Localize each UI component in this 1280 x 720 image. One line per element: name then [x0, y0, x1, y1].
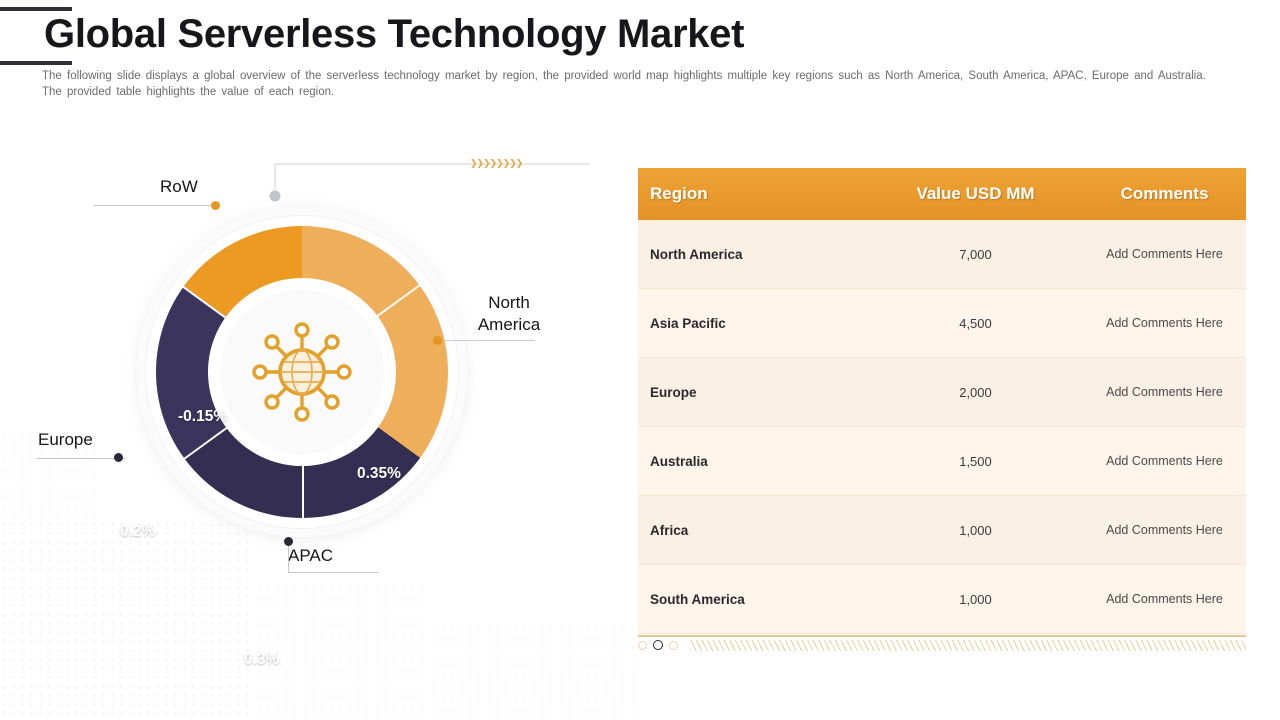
cell-region: Australia: [638, 454, 868, 469]
table-row[interactable]: South America 1,000 Add Comments Here: [638, 565, 1246, 634]
chart-label-apac-stem: [288, 545, 289, 573]
table-row[interactable]: Australia 1,500 Add Comments Here: [638, 427, 1246, 496]
cell-value: 1,000: [868, 592, 1083, 607]
slice-value-north-america: 0.35%: [357, 465, 401, 483]
cell-value: 7,000: [868, 247, 1083, 262]
cell-value: 1,500: [868, 454, 1083, 469]
pagination-dot-2-active[interactable]: [653, 640, 663, 650]
cell-value: 2,000: [868, 385, 1083, 400]
chart-label-row: RoW: [160, 177, 198, 197]
chevron-arrows-icon: ❯❯❯❯❯❯❯❯: [470, 159, 522, 169]
cell-region: North America: [638, 247, 868, 262]
chart-label-apac-line: [288, 572, 378, 573]
table-header-value: Value USD MM: [868, 184, 1083, 204]
chart-label-north-america: North America: [467, 292, 551, 336]
donut-center: [220, 290, 384, 454]
table-header-region: Region: [638, 184, 868, 204]
cell-comments[interactable]: Add Comments Here: [1083, 454, 1246, 468]
slice-value-row: -0.15%: [178, 408, 227, 426]
cell-comments[interactable]: Add Comments Here: [1083, 247, 1246, 261]
cell-comments[interactable]: Add Comments Here: [1083, 523, 1246, 537]
pagination-dot-3[interactable]: [669, 641, 678, 650]
page-title: Global Serverless Technology Market: [44, 12, 744, 57]
chart-label-apac-dot: [284, 537, 293, 546]
footer-hatch-decoration: [690, 640, 1246, 651]
slice-value-apac: 0.3%: [244, 651, 279, 669]
table-header-comments: Comments: [1083, 184, 1246, 204]
footer-pagination: [638, 637, 1246, 653]
page-subtitle: The following slide displays a global ov…: [42, 68, 1207, 100]
table-row[interactable]: Africa 1,000 Add Comments Here: [638, 496, 1246, 565]
cell-region: Africa: [638, 523, 868, 538]
table-header-row: Region Value USD MM Comments: [638, 168, 1246, 220]
cell-comments[interactable]: Add Comments Here: [1083, 592, 1246, 606]
chart-label-row-dot: [211, 201, 220, 210]
cell-region: Europe: [638, 385, 868, 400]
table-row[interactable]: Europe 2,000 Add Comments Here: [638, 358, 1246, 427]
cell-comments[interactable]: Add Comments Here: [1083, 385, 1246, 399]
cell-region: Asia Pacific: [638, 316, 868, 331]
cell-region: South America: [638, 592, 868, 607]
chart-label-row-line: [94, 205, 218, 206]
cell-comments[interactable]: Add Comments Here: [1083, 316, 1246, 330]
cell-value: 1,000: [868, 523, 1083, 538]
chart-label-europe-line: [36, 458, 126, 459]
accent-bar-top: [0, 7, 72, 11]
table-row[interactable]: Asia Pacific 4,500 Add Comments Here: [638, 289, 1246, 358]
chart-label-north-america-dot: [433, 336, 442, 345]
regions-table: Region Value USD MM Comments North Ameri…: [638, 168, 1246, 637]
chart-label-europe-dot: [114, 453, 123, 462]
donut-chart: ❯❯❯❯❯❯❯❯: [60, 160, 590, 580]
table-row[interactable]: North America 7,000 Add Comments Here: [638, 220, 1246, 289]
slice-value-europe: 0.2%: [120, 523, 155, 541]
globe-network-icon: [248, 318, 356, 426]
chart-label-europe: Europe: [38, 430, 93, 450]
chart-label-north-america-line: [445, 340, 535, 341]
accent-bar-bottom: [0, 61, 72, 65]
pagination-dot-1[interactable]: [638, 641, 647, 650]
chart-label-apac: APAC: [288, 546, 333, 566]
cell-value: 4,500: [868, 316, 1083, 331]
